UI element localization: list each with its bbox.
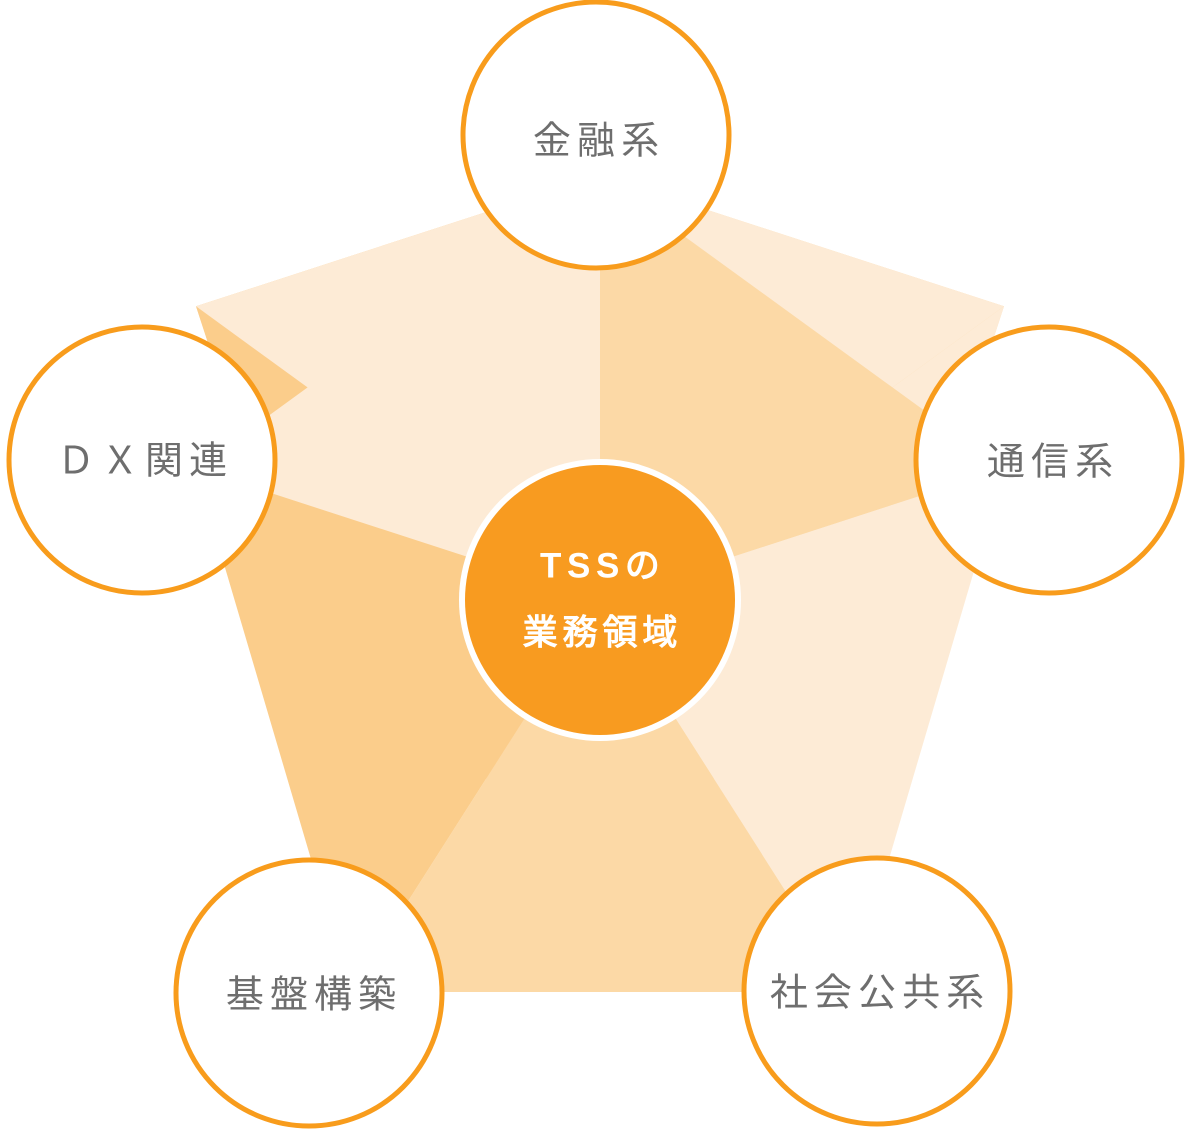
diagram-canvas: 金融系 通信系 社会公共系 基盤構築 ＤＸ関連 TSSの 業務領域 (0, 0, 1188, 1132)
node-circle-social-public[interactable] (744, 858, 1010, 1124)
node-circle-infrastructure[interactable] (176, 860, 442, 1126)
node-circle-finance[interactable] (463, 2, 729, 268)
center-hub-circle[interactable] (465, 465, 735, 735)
pentagon-diagram (0, 0, 1188, 1132)
node-circle-telecom[interactable] (916, 327, 1182, 593)
node-circle-dx[interactable] (9, 327, 275, 593)
